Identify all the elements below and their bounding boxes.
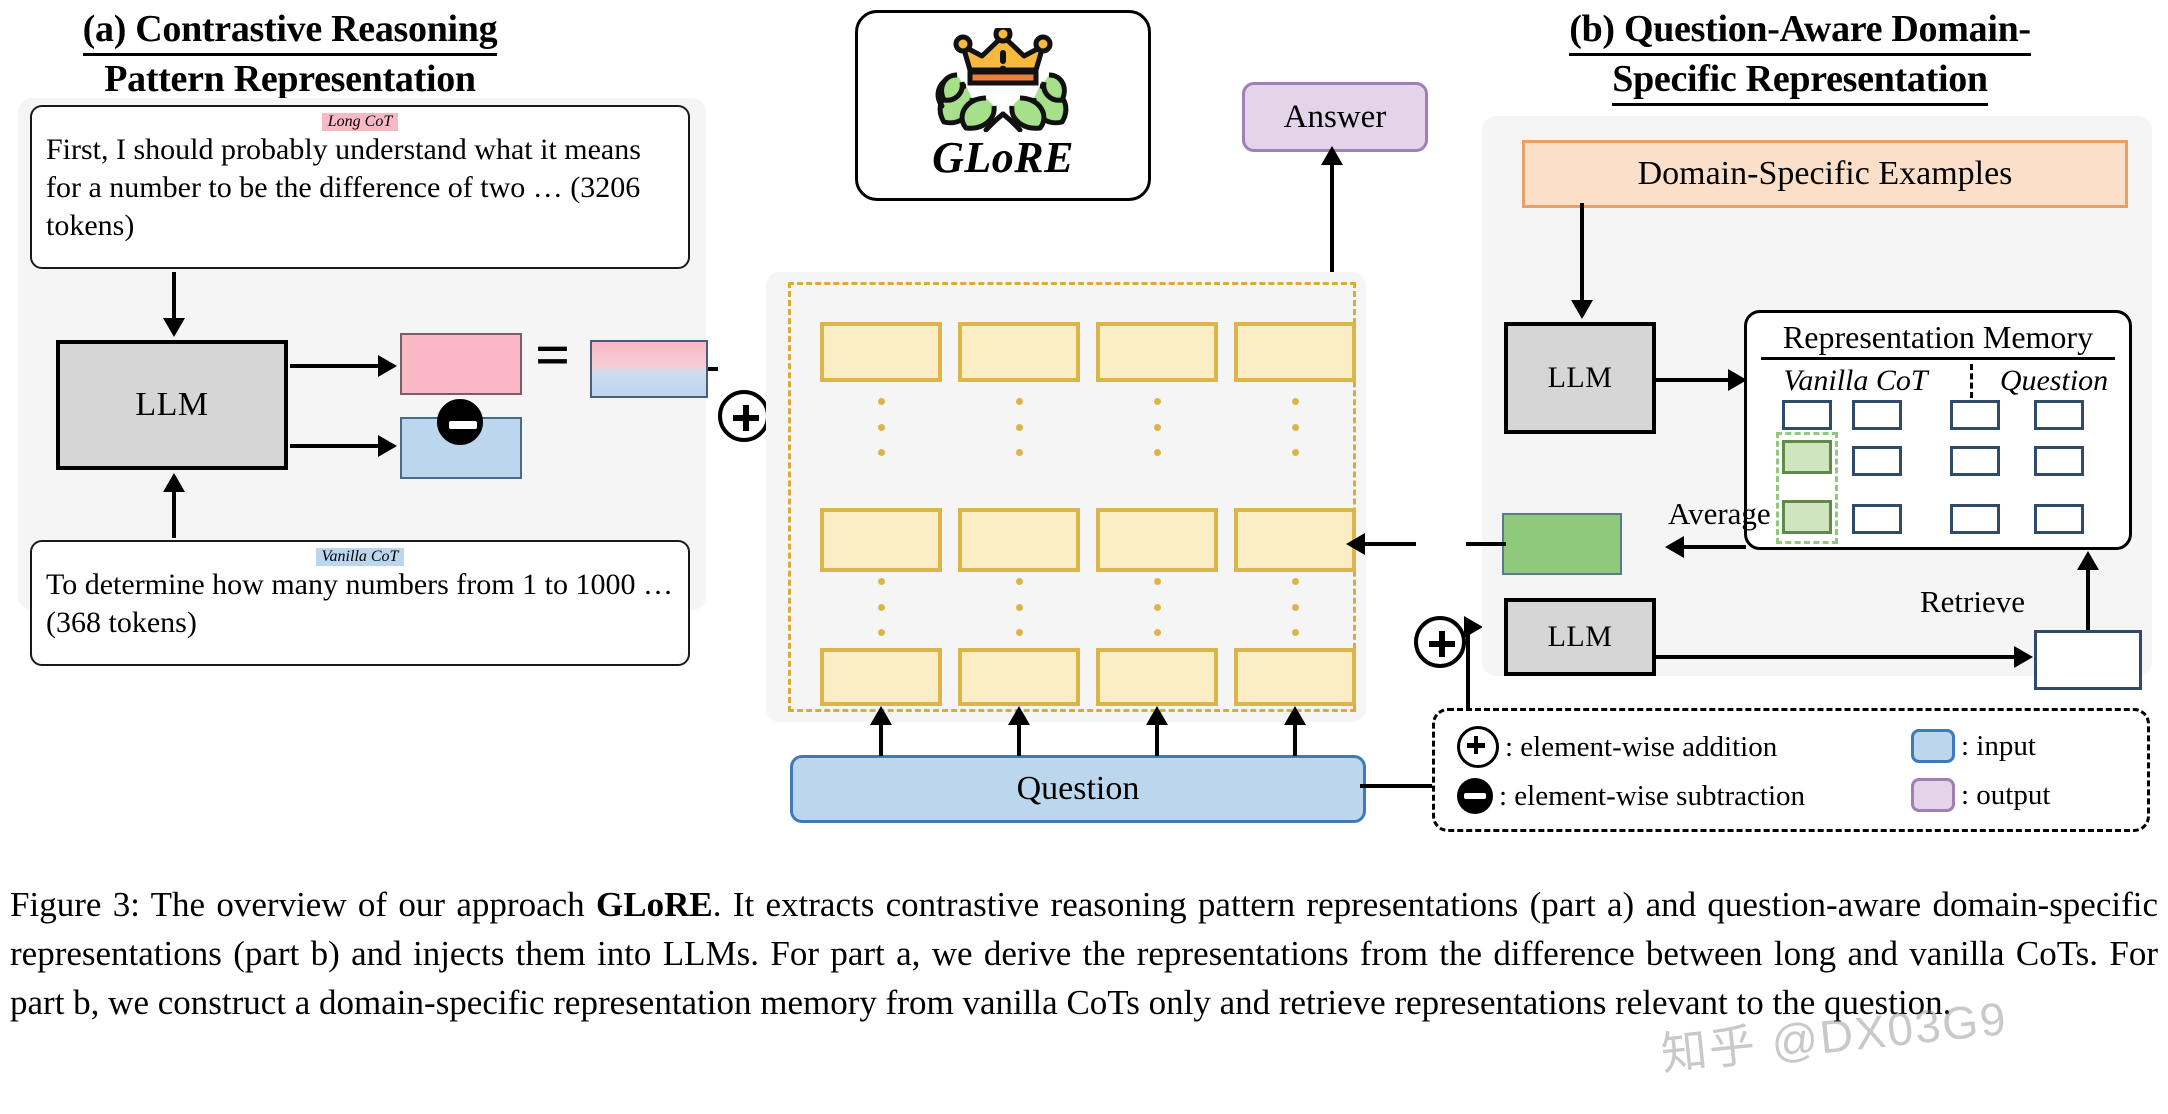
arrow-question-to-grid-c4-head	[1284, 706, 1306, 725]
legend-row-subtraction: : element-wise subtraction	[1457, 778, 1887, 814]
arrow-llm-to-blue	[290, 444, 380, 448]
memory-slot-v-r2c1-selected	[1782, 440, 1832, 474]
minus-circle-icon	[1457, 778, 1493, 814]
grid-dots-c3-top	[1153, 398, 1161, 456]
part-b-title-line2: Specific Representation	[1612, 56, 1988, 106]
grid-cell-r3c1	[820, 648, 942, 706]
question-box: Question	[790, 755, 1366, 823]
minus-circle-icon	[437, 399, 483, 445]
memory-slot-v-r1c2	[1852, 400, 1902, 430]
arrow-longcot-to-llm	[172, 272, 176, 320]
part-b-title-line1: (b) Question-Aware Domain-	[1569, 6, 2031, 56]
part-a-title: (a) Contrastive Reasoning Pattern Repres…	[30, 6, 550, 106]
plus-circle-icon	[1457, 726, 1499, 768]
arrow-llmb2-to-retrieve-box-head	[2014, 646, 2033, 668]
answer-box: Answer	[1242, 82, 1428, 152]
caption-line-4: representation memory from vanilla CoTs …	[553, 983, 1951, 1022]
vanilla-cot-tag-wrap: Vanilla CoT	[46, 548, 674, 566]
arrow-vanillacot-to-llm	[172, 490, 176, 538]
llm-box-part-a: LLM	[56, 340, 288, 470]
arrow-memory-to-green-head	[1665, 536, 1684, 558]
arrow-vanillacot-to-llm-head	[163, 473, 185, 492]
memory-slot-q-r1c1	[1950, 400, 2000, 430]
grid-dots-c1-top	[877, 398, 885, 456]
arrow-question-to-grid-c4	[1293, 722, 1297, 756]
grid-cell-r2c4	[1234, 508, 1356, 572]
arrow-question-to-llm-b2-head	[1464, 616, 1483, 638]
retrieve-label: Retrieve	[1920, 584, 2025, 620]
memory-slot-q-r1c2	[2034, 400, 2084, 430]
vanilla-cot-box: Vanilla CoT To determine how many number…	[30, 540, 690, 666]
arrow-question-to-grid-c1-head	[870, 706, 892, 725]
arrow-question-to-grid-c1	[879, 722, 883, 756]
input-swatch-icon	[1911, 729, 1955, 763]
arrow-dse-to-llm-head	[1571, 300, 1593, 319]
long-cot-tag-wrap: Long CoT	[46, 113, 674, 131]
caption-approach-name: GLoRE	[596, 885, 713, 924]
plus-circle-left-icon	[718, 390, 770, 442]
glore-logo-box: GLoRE	[855, 10, 1151, 201]
grid-cell-r1c1	[820, 322, 942, 382]
grid-dots-c2-bottom	[1015, 578, 1023, 636]
representation-memory-title: Representation Memory	[1747, 317, 2129, 357]
grid-cell-r1c4	[1234, 322, 1356, 382]
retrieved-question-box	[2034, 630, 2142, 690]
legend-row-addition: : element-wise addition	[1457, 726, 1887, 768]
grid-dots-c4-bottom	[1291, 578, 1299, 636]
equals-sign: =	[535, 325, 570, 387]
grid-cell-r2c1	[820, 508, 942, 572]
grid-dots-c3-bottom	[1153, 578, 1161, 636]
vanilla-cot-tag: Vanilla CoT	[316, 548, 405, 566]
legend-addition-label: : element-wise addition	[1505, 730, 1777, 764]
arrow-diff-to-plus	[708, 367, 718, 371]
arrow-dse-to-llm	[1580, 203, 1584, 303]
memory-col-question: Question	[1979, 364, 2129, 398]
llm-box-part-b-bottom: LLM	[1504, 598, 1656, 676]
memory-slot-q-r3c2	[2034, 504, 2084, 534]
legend-input-label: : input	[1961, 729, 2036, 763]
arrow-retrieve-up-head	[2077, 551, 2099, 570]
arrow-llm-to-blue-head	[378, 435, 397, 457]
long-cot-box: Long CoT First, I should probably unders…	[30, 105, 690, 269]
legend-row-output: : output	[1911, 778, 2125, 812]
arrow-plus-to-grid-right	[1362, 542, 1416, 546]
long-cot-representation-vector	[400, 333, 522, 395]
crown-laurel-icon	[908, 28, 1098, 132]
grid-cell-r3c2	[958, 648, 1080, 706]
arrow-question-to-grid-c3	[1155, 722, 1159, 756]
vanilla-cot-text: To determine how many numbers from 1 to …	[46, 566, 674, 642]
long-cot-tag: Long CoT	[322, 113, 398, 131]
llm-box-part-b-top: LLM	[1504, 322, 1656, 434]
retrieved-representation-vector	[1502, 513, 1622, 575]
arrow-retrieve-up	[2086, 568, 2090, 630]
memory-slot-q-r2c2	[2034, 446, 2084, 476]
part-a-title-line1: (a) Contrastive Reasoning	[83, 6, 498, 56]
memory-slot-q-r3c1	[1950, 504, 2000, 534]
legend-box: : element-wise addition : element-wise s…	[1432, 708, 2150, 832]
contrastive-representation-vector	[590, 340, 708, 398]
legend-output-label: : output	[1961, 778, 2050, 812]
representation-memory-divider	[1761, 357, 2115, 360]
output-swatch-icon	[1911, 778, 1955, 812]
memory-column-divider	[1970, 364, 1973, 398]
grid-cell-r3c4	[1234, 648, 1356, 706]
average-label: Average	[1668, 496, 1771, 532]
memory-slot-v-r2c2	[1852, 446, 1902, 476]
arrow-longcot-to-llm-head	[163, 318, 185, 337]
grid-cell-r2c2	[958, 508, 1080, 572]
arrow-memory-to-green	[1684, 545, 1746, 549]
arrow-green-to-plus	[1466, 542, 1506, 546]
memory-slot-v-r3c2	[1852, 504, 1902, 534]
arrow-grid-to-answer-head	[1321, 146, 1343, 165]
long-cot-text: First, I should probably understand what…	[46, 131, 674, 245]
memory-slot-v-r3c1-selected	[1782, 500, 1832, 534]
arrow-grid-to-answer	[1330, 152, 1334, 284]
arrow-question-to-grid-c2-head	[1008, 706, 1030, 725]
memory-slot-q-r2c1	[1950, 446, 2000, 476]
caption-line-1a: Figure 3: The overview of our approach	[10, 885, 596, 924]
arrow-llm-to-pink	[290, 364, 380, 368]
caption-line-1b: . It extracts contrastive reasoning patt…	[713, 885, 1635, 924]
legend-row-input: : input	[1911, 729, 2125, 763]
glore-logo-name: GLoRE	[932, 132, 1074, 183]
plus-circle-right-icon	[1414, 616, 1466, 668]
legend-subtraction-label: : element-wise subtraction	[1499, 779, 1805, 813]
grid-cell-r1c3	[1096, 322, 1218, 382]
memory-col-vanilla-cot: Vanilla CoT	[1747, 364, 1964, 398]
arrow-question-to-grid-c3-head	[1146, 706, 1168, 725]
domain-specific-examples-box: Domain-Specific Examples	[1522, 140, 2128, 208]
part-b-title: (b) Question-Aware Domain- Specific Repr…	[1450, 6, 2150, 106]
arrow-llm-to-memory	[1656, 378, 1732, 382]
grid-dots-c1-bottom	[877, 578, 885, 636]
grid-dots-c2-top	[1015, 398, 1023, 456]
grid-cell-r3c3	[1096, 648, 1218, 706]
arrow-llmb2-to-retrieve-box	[1656, 655, 2016, 659]
grid-cell-r2c3	[1096, 508, 1218, 572]
figure-caption: Figure 3: The overview of our approach G…	[10, 880, 2158, 1027]
arrow-plus-to-grid-right-head	[1346, 533, 1365, 555]
arrow-llm-to-pink-head	[378, 355, 397, 377]
memory-slot-v-r1c1	[1782, 400, 1832, 430]
grid-dots-c4-top	[1291, 398, 1299, 456]
arrow-question-to-grid-c2	[1017, 722, 1021, 756]
grid-cell-r1c2	[958, 322, 1080, 382]
